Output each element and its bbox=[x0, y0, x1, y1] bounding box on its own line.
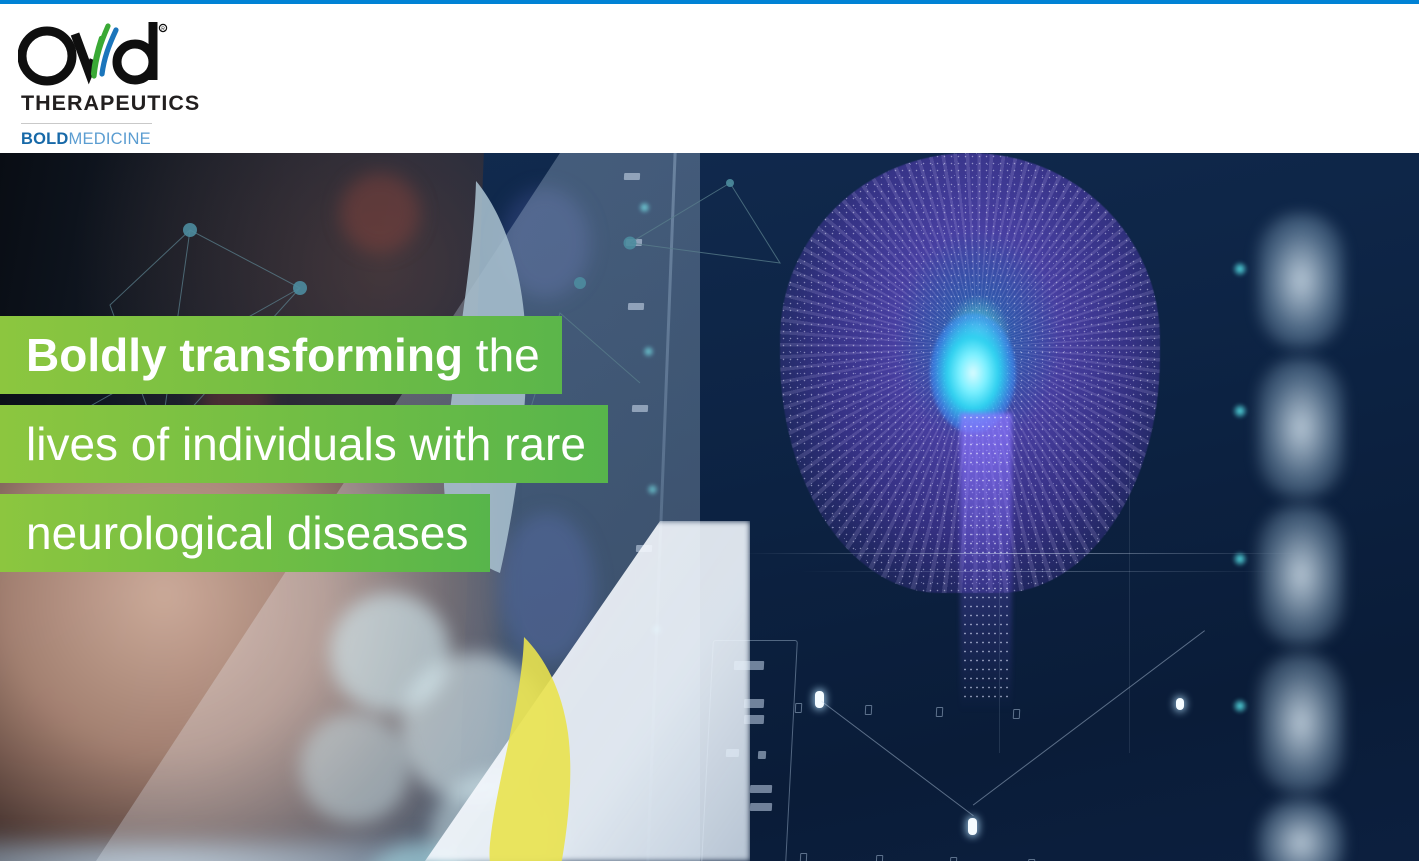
site-header: R THERAPEUTICS BOLDMEDICINE bbox=[0, 4, 1419, 153]
headline-line-1-rest: the bbox=[463, 329, 540, 381]
logo-tagline: BOLDMEDICINE bbox=[18, 130, 188, 149]
logo-tagline-light: MEDICINE bbox=[69, 130, 151, 148]
registered-trademark-icon: R bbox=[159, 24, 166, 32]
headline-line-1: Boldly transforming the bbox=[0, 316, 562, 394]
hero-banner: Boldly transforming the lives of individ… bbox=[0, 153, 1419, 861]
ovid-logo[interactable]: R THERAPEUTICS BOLDMEDICINE bbox=[18, 22, 188, 138]
page-root: R THERAPEUTICS BOLDMEDICINE bbox=[0, 0, 1419, 861]
logo-subtitle: THERAPEUTICS bbox=[18, 91, 188, 116]
headline-line-1-bold: Boldly transforming bbox=[26, 329, 463, 381]
letter-v-icon bbox=[75, 34, 94, 72]
letter-o-icon bbox=[22, 31, 72, 81]
headline-line-2: lives of individuals with rare bbox=[0, 405, 608, 483]
hero-headline: Boldly transforming the lives of individ… bbox=[0, 316, 760, 572]
ovid-wordmark-mark: R bbox=[18, 22, 168, 90]
svg-text:R: R bbox=[161, 26, 165, 32]
flame-swoosh-icon bbox=[93, 26, 116, 76]
letter-d-icon bbox=[117, 22, 158, 80]
logo-divider bbox=[21, 123, 152, 124]
logo-tagline-bold: BOLD bbox=[21, 130, 69, 148]
headline-line-3: neurological diseases bbox=[0, 494, 490, 572]
